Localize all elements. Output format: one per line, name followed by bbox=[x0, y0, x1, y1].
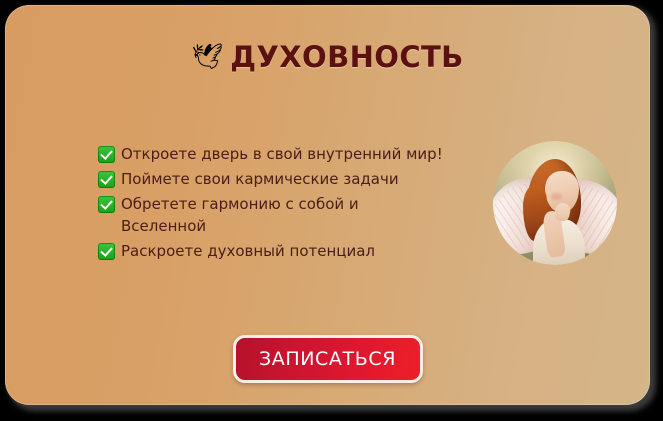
check-mark-icon bbox=[98, 146, 115, 163]
page-title: ДУХОВНОСТЬ bbox=[230, 40, 463, 74]
list-item-label: Поймете свои кармические задачи bbox=[121, 168, 399, 190]
list-item: Поймете свои кармические задачи bbox=[98, 168, 483, 190]
list-item-label: Раскроете духовный потенциал bbox=[121, 240, 375, 262]
cta-container: ЗАПИСАТЬСЯ bbox=[5, 335, 650, 383]
benefits-list: Откроете дверь в свой внутренний мир! По… bbox=[98, 143, 483, 265]
check-mark-icon bbox=[98, 243, 115, 260]
list-item-label: Вселенной bbox=[121, 215, 206, 237]
list-item: Обретете гармонию с собой и bbox=[98, 193, 483, 215]
page-title-row: 🕊 ДУХОВНОСТЬ bbox=[5, 40, 650, 74]
angel-cheek bbox=[551, 193, 562, 200]
check-mark-icon bbox=[98, 196, 115, 213]
promo-card: 🕊 ДУХОВНОСТЬ Откроете дверь в свой внутр… bbox=[5, 5, 650, 405]
signup-button[interactable]: ЗАПИСАТЬСЯ bbox=[233, 335, 423, 383]
list-item-continuation: Вселенной bbox=[98, 215, 483, 237]
angel-image-backdrop bbox=[493, 141, 617, 265]
list-item: Раскроете духовный потенциал bbox=[98, 240, 483, 262]
list-item-label: Откроете дверь в свой внутренний мир! bbox=[121, 143, 443, 165]
angel-portrait-image bbox=[493, 141, 617, 265]
signup-button-label: ЗАПИСАТЬСЯ bbox=[259, 348, 396, 370]
list-indent-spacer bbox=[98, 215, 115, 232]
check-mark-icon bbox=[98, 171, 115, 188]
screen-root: 🕊 ДУХОВНОСТЬ Откроете дверь в свой внутр… bbox=[0, 0, 663, 421]
list-item-label: Обретете гармонию с собой и bbox=[121, 193, 359, 215]
dove-icon: 🕊 bbox=[191, 42, 221, 72]
list-item: Откроете дверь в свой внутренний мир! bbox=[98, 143, 483, 165]
